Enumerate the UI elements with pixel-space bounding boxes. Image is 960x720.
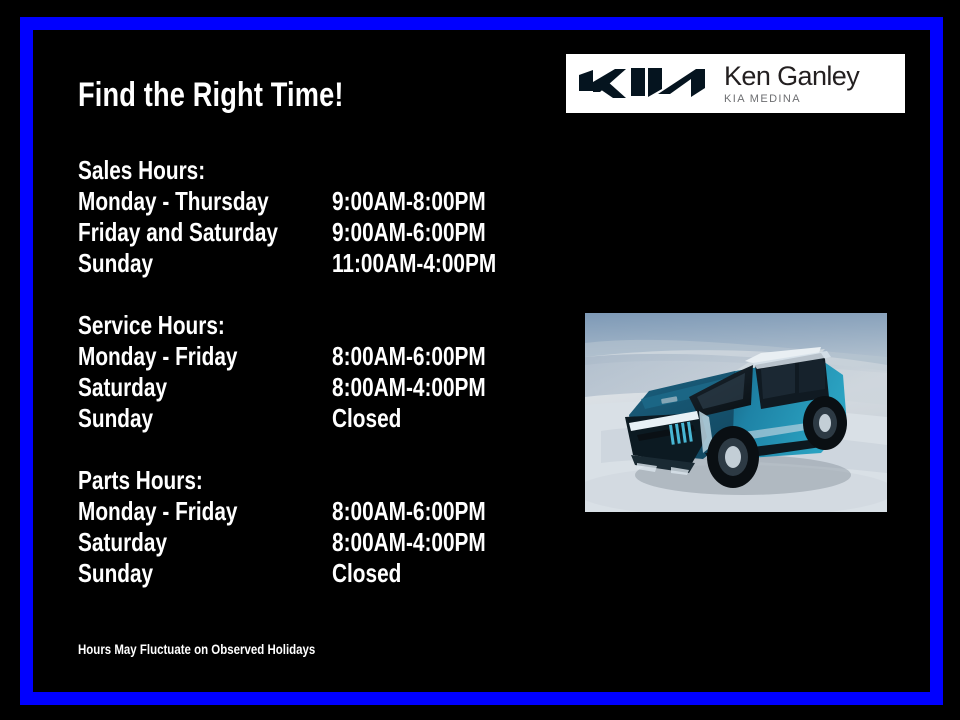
hours-row-day: Sunday xyxy=(78,558,153,589)
dealer-location: KIA MEDINA xyxy=(724,92,859,106)
kia-logo-icon xyxy=(578,67,706,101)
hours-row-day: Friday and Saturday xyxy=(78,217,278,248)
hours-row-time: 8:00AM-4:00PM xyxy=(332,372,486,403)
hours-row: Sunday Closed xyxy=(78,558,548,589)
section-heading: Parts Hours: xyxy=(78,465,454,496)
hours-row: Saturday 8:00AM-4:00PM xyxy=(78,372,548,403)
hours-row: Sunday Closed xyxy=(78,403,548,434)
hours-row: Monday - Friday 8:00AM-6:00PM xyxy=(78,341,548,372)
hours-row-time: 9:00AM-8:00PM xyxy=(332,186,486,217)
vehicle-photo xyxy=(585,313,887,512)
hours-row-day: Saturday xyxy=(78,527,167,558)
hours-row-time: Closed xyxy=(332,558,401,589)
hours-row: Saturday 8:00AM-4:00PM xyxy=(78,527,548,558)
hours-row-time: 8:00AM-6:00PM xyxy=(332,496,486,527)
hours-row-time: 8:00AM-4:00PM xyxy=(332,527,486,558)
hours-row-day: Monday - Friday xyxy=(78,496,237,527)
slide-canvas: Find the Right Time! Sales Hours: Monday… xyxy=(0,0,960,720)
hours-row: Friday and Saturday 9:00AM-6:00PM xyxy=(78,217,548,248)
hours-row-day: Saturday xyxy=(78,372,167,403)
dealer-name-block: Ken Ganley KIA MEDINA xyxy=(724,62,859,106)
section-heading: Sales Hours: xyxy=(78,155,454,186)
hours-row: Monday - Thursday 9:00AM-8:00PM xyxy=(78,186,548,217)
hours-listing: Sales Hours: Monday - Thursday 9:00AM-8:… xyxy=(78,155,548,589)
holiday-disclaimer: Hours May Fluctuate on Observed Holidays xyxy=(78,641,315,658)
dealer-name: Ken Ganley xyxy=(724,62,859,90)
hours-row-time: Closed xyxy=(332,403,401,434)
page-title: Find the Right Time! xyxy=(78,76,344,114)
hours-section-service: Service Hours: Monday - Friday 8:00AM-6:… xyxy=(78,310,548,434)
hours-section-sales: Sales Hours: Monday - Thursday 9:00AM-8:… xyxy=(78,155,548,279)
hours-row-time: 11:00AM-4:00PM xyxy=(332,248,496,279)
hours-row-day: Monday - Friday xyxy=(78,341,237,372)
hours-section-parts: Parts Hours: Monday - Friday 8:00AM-6:00… xyxy=(78,465,548,589)
hours-row-day: Monday - Thursday xyxy=(78,186,269,217)
hours-row: Monday - Friday 8:00AM-6:00PM xyxy=(78,496,548,527)
hours-row-time: 9:00AM-6:00PM xyxy=(332,217,486,248)
hours-row-day: Sunday xyxy=(78,403,153,434)
hours-row: Sunday 11:00AM-4:00PM xyxy=(78,248,548,279)
section-heading: Service Hours: xyxy=(78,310,454,341)
dealer-logo-panel: Ken Ganley KIA MEDINA xyxy=(566,54,905,113)
hours-row-time: 8:00AM-6:00PM xyxy=(332,341,486,372)
hours-row-day: Sunday xyxy=(78,248,153,279)
kia-ev9-illustration xyxy=(585,313,887,512)
